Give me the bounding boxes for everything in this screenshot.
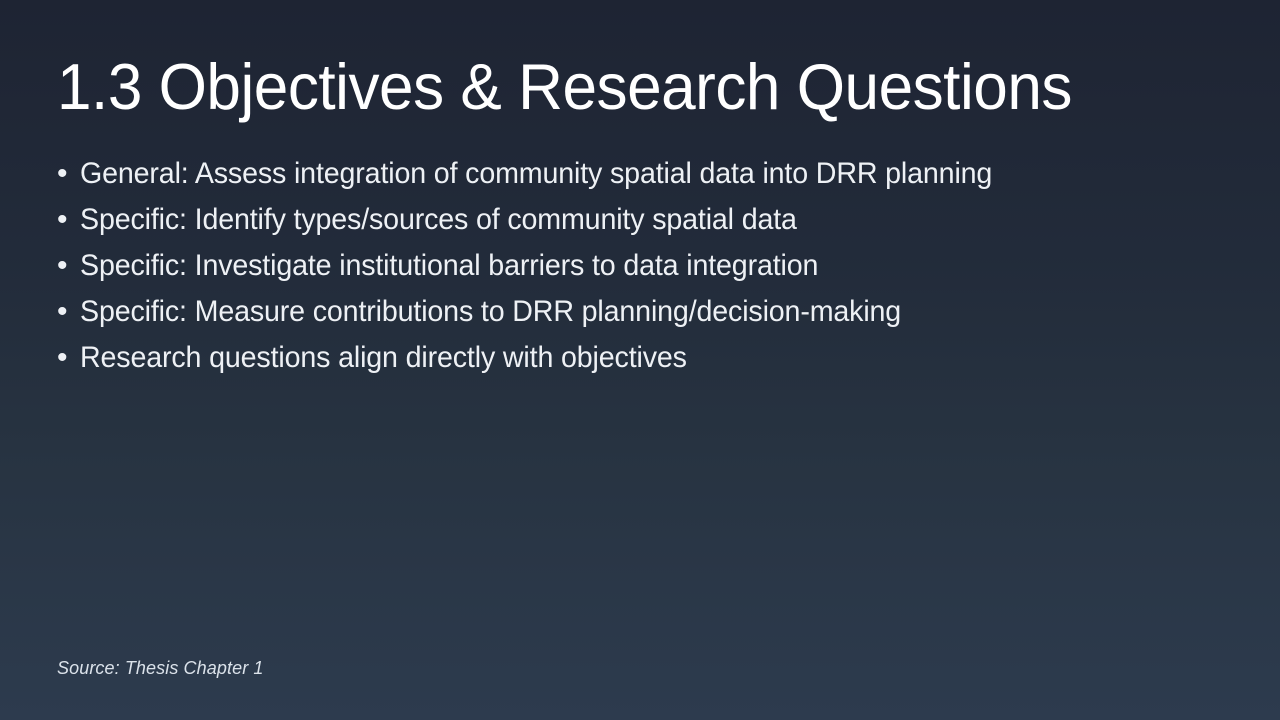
slide-title: 1.3 Objectives & Research Questions [57, 50, 1108, 124]
source-note: Source: Thesis Chapter 1 [57, 656, 264, 680]
list-item: • Specific: Investigate institutional ba… [57, 246, 1237, 292]
list-item-label: Specific: Measure contributions to DRR p… [80, 292, 901, 332]
list-item: • General: Assess integration of communi… [57, 154, 1237, 200]
bullet-dot-icon: • [57, 338, 80, 378]
bullet-dot-icon: • [57, 292, 80, 332]
bullet-dot-icon: • [57, 246, 80, 286]
list-item-label: General: Assess integration of community… [80, 154, 992, 194]
list-item: • Specific: Identify types/sources of co… [57, 200, 1237, 246]
list-item-label: Research questions align directly with o… [80, 338, 687, 378]
bullet-dot-icon: • [57, 200, 80, 240]
bullet-dot-icon: • [57, 154, 80, 194]
list-item-label: Specific: Identify types/sources of comm… [80, 200, 797, 240]
list-item: • Research questions align directly with… [57, 338, 1237, 384]
list-item: • Specific: Measure contributions to DRR… [57, 292, 1237, 338]
presentation-slide: 1.3 Objectives & Research Questions • Ge… [0, 0, 1280, 720]
bullet-list: • General: Assess integration of communi… [57, 154, 1237, 384]
list-item-label: Specific: Investigate institutional barr… [80, 246, 818, 286]
